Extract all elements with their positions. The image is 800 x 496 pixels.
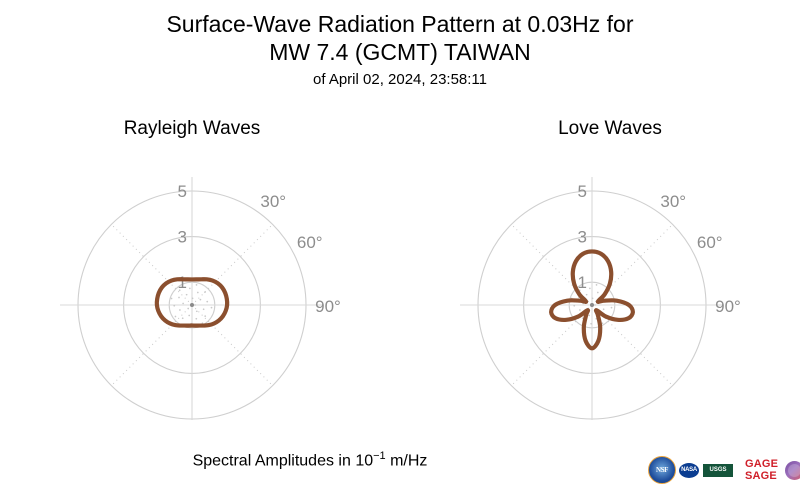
love-panel: Love Waves 13530°60°90° [400,110,800,420]
grid-stipple-dot [211,307,213,309]
usgs-logo-label: USGS [709,467,726,473]
angle-tick-60: 60° [297,233,323,252]
grid-stipple-dot [182,303,184,305]
angle-tick-90: 90° [715,297,741,316]
title-line-1: Surface-Wave Radiation Pattern at 0.03Hz… [0,10,800,38]
usgs-logo: USGS [702,464,733,477]
grid-stipple-dot [594,304,596,306]
grid-stipple-dot [188,315,190,317]
rayleigh-axis-labels: 13530°60°90° [178,182,341,316]
angle-tick-30: 30° [260,192,286,211]
nasa-meatball-icon: NASA [679,463,699,478]
spectral-amplitude-caption: Spectral Amplitudes in 10−1 m/Hz [0,450,620,470]
nsf-logo-label: NSF [656,466,668,474]
grid-stipple-dot [586,294,588,296]
love-polar-plot: 13530°60°90° [400,110,800,420]
grid-stipple-dot [588,315,590,317]
love-polar-svg: 13530°60°90° [400,110,800,420]
grid-center-dot [190,303,194,307]
caption-exponent: −1 [373,450,386,462]
nasa-logo-label: NASA [681,467,697,473]
grid-stipple-dot [179,309,181,311]
radial-tick-1: 1 [578,273,587,292]
grid-stipple-dot [192,297,194,299]
grid-stipple-dot [175,316,177,318]
event-datetime-subtitle: of April 02, 2024, 23:58:11 [0,70,800,90]
nasa-logo: NASA [679,463,699,478]
grid-stipple-dot [182,317,184,319]
grid-stipple-dot [603,308,605,310]
grid-spoke-135 [192,305,273,386]
angle-tick-90: 90° [315,297,341,316]
usgs-mark-icon: USGS [703,464,733,477]
nsf-logo: NSF [648,456,676,484]
grid-stipple-dot [194,304,196,306]
radial-tick-3: 3 [178,228,187,247]
grid-stipple-dot [204,291,206,293]
grid-spoke-45 [192,224,273,305]
grid-stipple-dot [197,292,199,294]
radial-tick-3: 3 [578,228,587,247]
gage-label: GAGE [745,458,778,470]
grid-stipple-dot [579,309,581,311]
grid-stipple-dot [597,292,599,294]
angle-tick-30: 30° [660,192,686,211]
grid-stipple-dot [589,288,591,290]
title-block: Surface-Wave Radiation Pattern at 0.03Hz… [0,10,800,90]
caption-suffix: m/Hz [386,452,428,469]
grid-stipple-dot [206,301,208,303]
rayleigh-polar-plot: 13530°60°90° [0,110,400,420]
earthscope-logo: formerly EarthScope Consortium [785,461,800,480]
title-line-2: MW 7.4 (GCMT) TAIWAN [0,38,800,66]
grid-stipple-dot [203,308,205,310]
nsf-seal-icon: NSF [648,456,676,484]
gage-sage-logo: GAGE SAGE [745,458,778,482]
rayleigh-panel: Rayleigh Waves 13530°60°90° [0,110,400,420]
grid-stipple-dot [611,307,613,309]
grid-stipple-dot [204,315,206,317]
grid-stipple-dot [592,297,594,299]
grid-stipple-dot [187,308,189,310]
grid-stipple-dot [573,305,575,307]
radial-tick-5: 5 [178,182,187,201]
grid-stipple-dot [189,288,191,290]
caption-prefix: Spectral Amplitudes in 10 [193,452,374,469]
grid-stipple-dot [196,284,198,286]
grid-stipple-dot [590,323,592,325]
radial-tick-1: 1 [178,273,187,292]
grid-spoke-225 [111,305,192,386]
rayleigh-polar-svg: 13530°60°90° [0,110,400,420]
sponsor-logo-bar: NSF NASA USGS GAGE SAGE formerly EarthSc… [648,452,796,488]
grid-stipple-dot [195,318,197,320]
earthscope-mark-icon [785,461,800,480]
grid-stipple-dot [196,310,198,312]
love-grid [460,177,724,420]
angle-tick-60: 60° [697,233,723,252]
grid-center-dot [590,303,594,307]
grid-stipple-dot [178,297,180,299]
rayleigh-grid [60,177,324,420]
radial-tick-5: 5 [578,182,587,201]
grid-stipple-dot [596,284,598,286]
grid-stipple-dot [200,299,202,301]
grid-stipple-dot [171,298,173,300]
grid-stipple-dot [186,294,188,296]
grid-stipple-dot [173,305,175,307]
sage-label: SAGE [745,470,778,482]
